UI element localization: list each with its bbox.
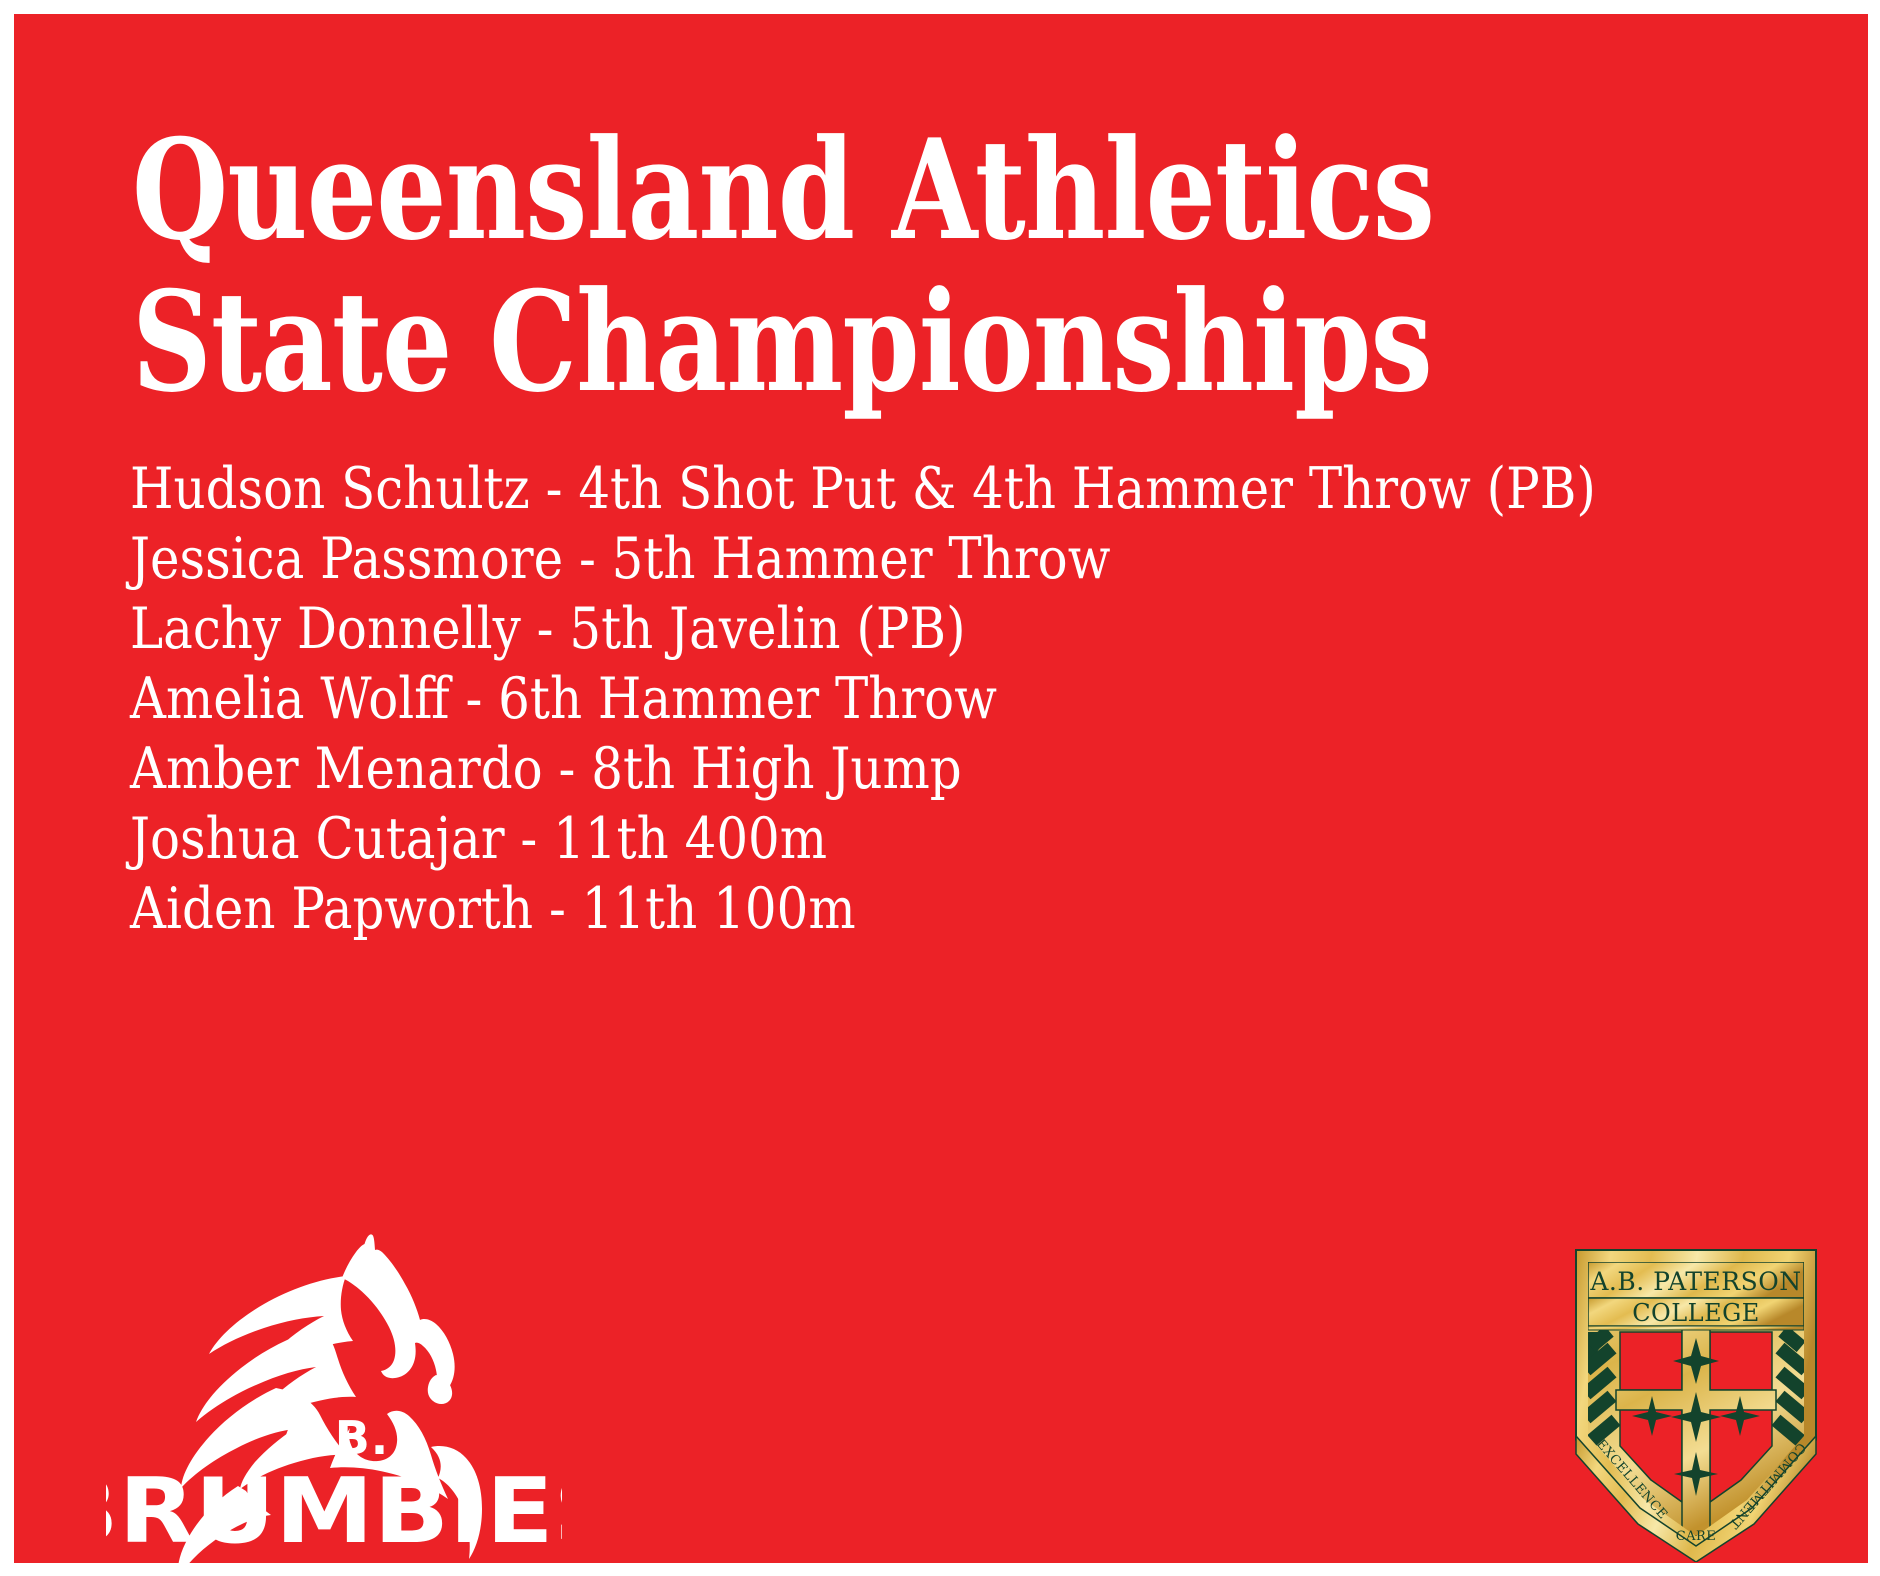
results-list: Hudson Schultz - 4th Shot Put & 4th Hamm… [130,454,1810,944]
ab-paterson-college-crest: EXCELLENCE COMMITMENT CARE A.B. PATERSON… [1562,1240,1830,1562]
list-item: Amelia Wolff - 6th Hammer Throw [130,664,1600,734]
crest-school-name-line-1: A.B. PATERSON [1589,1267,1801,1296]
brumbies-logo: A.B. BRUMBIES [106,1232,562,1574]
page-title-line-2: State Championships [132,266,1428,418]
list-item: Joshua Cutajar - 11th 400m [130,804,1600,874]
list-item: Hudson Schultz - 4th Shot Put & 4th Hamm… [130,454,1600,524]
list-item: Aiden Papworth - 11th 100m [130,874,1600,944]
list-item: Jessica Passmore - 5th Hammer Throw [130,524,1600,594]
brumbies-wordmark: BRUMBIES [106,1459,562,1564]
page-title: Queensland Athletics State Championships [132,114,1428,418]
list-item: Lachy Donnelly - 5th Javelin (PB) [130,594,1600,664]
brumbies-initials: A.B. [279,1411,389,1465]
crest-school-name-line-2: COLLEGE [1632,1299,1760,1327]
poster-background-panel: Queensland Athletics State Championships… [14,14,1868,1563]
list-item: Amber Menardo - 8th High Jump [130,734,1600,804]
crest-motto-care: CARE [1676,1529,1717,1544]
page-title-line-1: Queensland Athletics [132,114,1428,266]
poster-canvas: Queensland Athletics State Championships… [0,0,1880,1576]
